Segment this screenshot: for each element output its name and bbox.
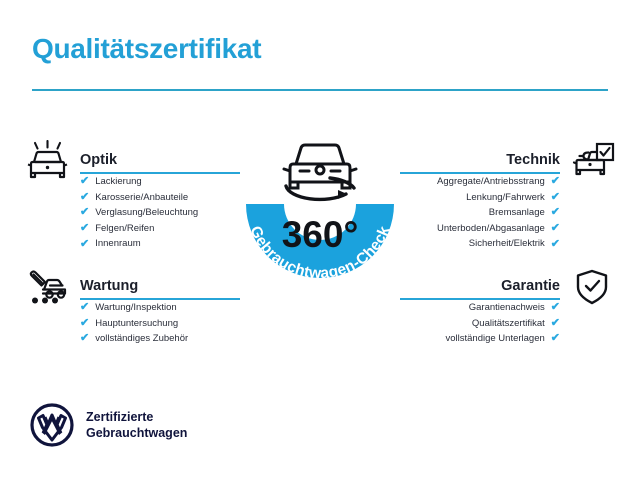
- section-technik: Technik Aggregate/Antriebsstrang✔ Lenkun…: [400, 140, 616, 170]
- check-icon: ✔: [551, 302, 560, 313]
- list-item-label: vollständige Unterlagen: [445, 331, 544, 347]
- section-wartung: Wartung ✔Wartung/Inspektion ✔Hauptunters…: [24, 266, 240, 296]
- list-item-label: Unterboden/Abgasanlage: [437, 221, 545, 237]
- section-title-optik: Optik: [80, 152, 117, 168]
- check-icon: ✔: [551, 239, 560, 250]
- list-item-label: Lackierung: [95, 174, 141, 190]
- badge-center-label: 360°: [282, 214, 359, 255]
- list-item: ✔Felgen/Reifen: [80, 221, 198, 237]
- section-title-garantie: Garantie: [501, 278, 560, 294]
- section-garantie: Garantie Garantienachweis✔ Qualitätszert…: [400, 266, 616, 296]
- list-item: Bremsanlage✔: [437, 205, 560, 221]
- 360-check-badge: 360° Gebrauchtwagen-Check: [228, 112, 412, 312]
- list-item: Aggregate/Antriebsstrang✔: [437, 174, 560, 190]
- list-item-label: Lenkung/Fahrwerk: [466, 190, 545, 206]
- list-item: Garantienachweis✔: [445, 300, 560, 316]
- check-icon: ✔: [80, 207, 89, 218]
- list-item: ✔Lackierung: [80, 174, 198, 190]
- list-item: ✔Hauptuntersuchung: [80, 316, 188, 332]
- list-item-label: Felgen/Reifen: [95, 221, 154, 237]
- footer-branding: Zertifizierte Gebrauchtwagen: [30, 403, 187, 447]
- check-icon: ✔: [80, 302, 89, 313]
- list-item-label: Bremsanlage: [489, 205, 545, 221]
- checklist-garantie: Garantienachweis✔ Qualitätszertifikat✔ v…: [445, 300, 560, 347]
- list-item: ✔vollständiges Zubehör: [80, 331, 188, 347]
- section-optik: Optik ✔Lackierung ✔Karosserie/Anbauteile…: [24, 140, 240, 170]
- list-item-label: Innenraum: [95, 236, 140, 252]
- check-icon: ✔: [80, 333, 89, 344]
- list-item: ✔Karosserie/Anbauteile: [80, 190, 198, 206]
- list-item: ✔Wartung/Inspektion: [80, 300, 188, 316]
- footer-line-1: Zertifizierte: [86, 409, 187, 425]
- check-icon: ✔: [80, 239, 89, 250]
- list-item-label: Aggregate/Antriebsstrang: [437, 174, 545, 190]
- section-title-technik: Technik: [506, 152, 560, 168]
- list-item-label: Qualitätszertifikat: [472, 316, 545, 332]
- list-item-label: Wartung/Inspektion: [95, 300, 177, 316]
- checklist-technik: Aggregate/Antriebsstrang✔ Lenkung/Fahrwe…: [437, 174, 560, 252]
- list-item: Lenkung/Fahrwerk✔: [437, 190, 560, 206]
- check-icon: ✔: [551, 176, 560, 187]
- check-icon: ✔: [80, 176, 89, 187]
- footer-text: Zertifizierte Gebrauchtwagen: [86, 409, 187, 441]
- check-icon: ✔: [551, 192, 560, 203]
- check-icon: ✔: [80, 223, 89, 234]
- list-item-label: Verglasung/Beleuchtung: [95, 205, 198, 221]
- checklist-wartung: ✔Wartung/Inspektion ✔Hauptuntersuchung ✔…: [80, 300, 188, 347]
- checklist-optik: ✔Lackierung ✔Karosserie/Anbauteile ✔Verg…: [80, 174, 198, 252]
- list-item: vollständige Unterlagen✔: [445, 331, 560, 347]
- check-icon: ✔: [551, 223, 560, 234]
- check-icon: ✔: [551, 318, 560, 329]
- vw-logo: [30, 403, 74, 447]
- list-item: ✔Innenraum: [80, 236, 198, 252]
- footer-line-2: Gebrauchtwagen: [86, 425, 187, 441]
- header-divider: [32, 89, 608, 91]
- list-item-label: Garantienachweis: [469, 300, 545, 316]
- check-icon: ✔: [551, 207, 560, 218]
- certificate-page: Qualitätszertifikat: [0, 0, 640, 480]
- car-rotate-icon: [284, 145, 356, 199]
- list-item-label: Karosserie/Anbauteile: [95, 190, 188, 206]
- list-item-label: Hauptuntersuchung: [95, 316, 178, 332]
- check-icon: ✔: [551, 333, 560, 344]
- section-title-wartung: Wartung: [80, 278, 138, 294]
- page-title: Qualitätszertifikat: [32, 33, 261, 65]
- list-item: Sicherheit/Elektrik✔: [437, 236, 560, 252]
- list-item-label: Sicherheit/Elektrik: [469, 236, 545, 252]
- list-item: Qualitätszertifikat✔: [445, 316, 560, 332]
- list-item: Unterboden/Abgasanlage✔: [437, 221, 560, 237]
- list-item-label: vollständiges Zubehör: [95, 331, 188, 347]
- check-icon: ✔: [80, 318, 89, 329]
- check-icon: ✔: [80, 192, 89, 203]
- list-item: ✔Verglasung/Beleuchtung: [80, 205, 198, 221]
